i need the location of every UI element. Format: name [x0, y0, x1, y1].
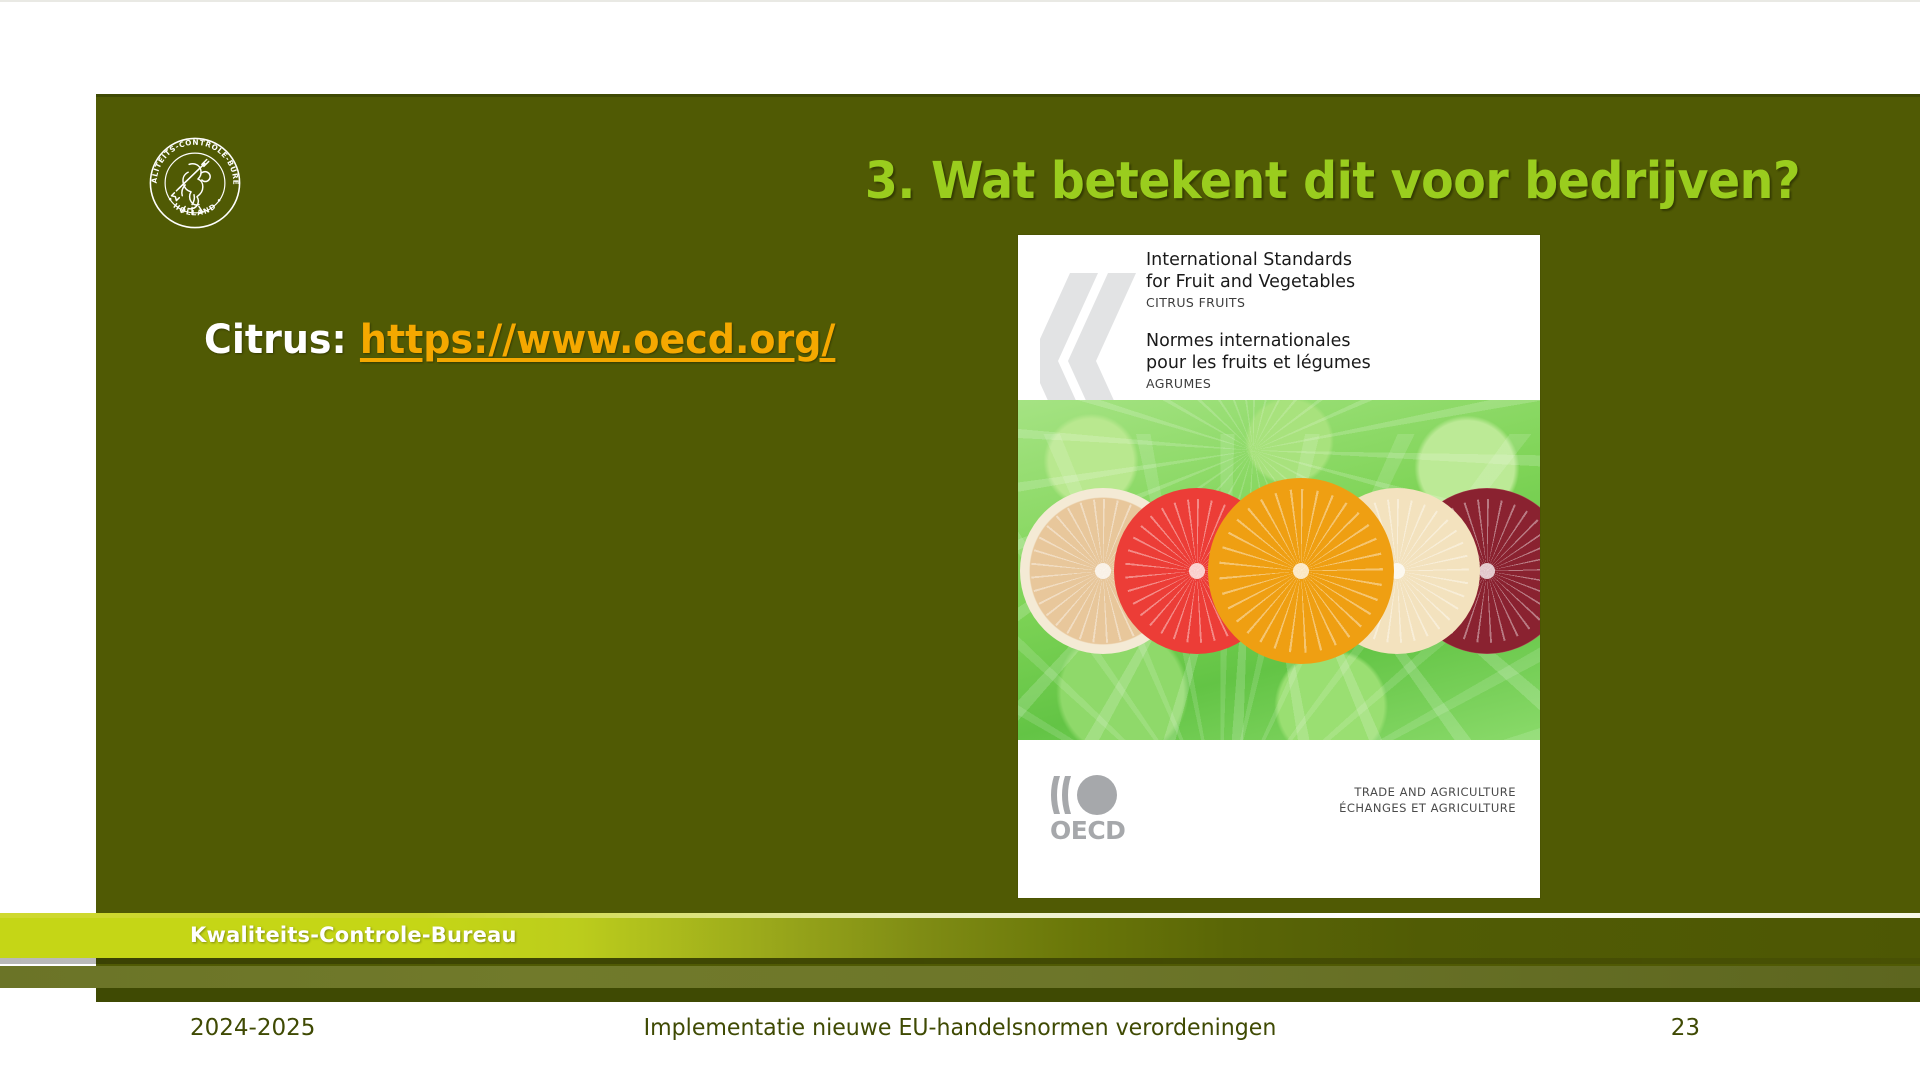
footer-deck-title: Implementatie nieuwe EU-handelsnormen ve…	[38, 1015, 1881, 1041]
cover-title-en-line2: for Fruit and Vegetables	[1146, 271, 1530, 293]
cover-footer-text: TRADE AND AGRICULTURE ÉCHANGES ET AGRICU…	[1339, 784, 1516, 816]
slide-title: 3. Wat betekent dit voor bedrijven?	[433, 152, 1800, 211]
oecd-logo-icon: OECD	[1048, 774, 1144, 844]
cover-subtitle-fr: AGRUMES	[1146, 376, 1530, 391]
citrus-label: Citrus:	[204, 317, 360, 363]
cover-title-en-line1: International Standards	[1146, 249, 1530, 271]
page-footer: 2024-2025 Implementatie nieuwe EU-handel…	[0, 1015, 1920, 1055]
cover-footer: OECD TRADE AND AGRICULTURE ÉCHANGES ET A…	[1018, 740, 1540, 898]
slide-panel-top-edge	[96, 94, 1920, 97]
cover-subtitle-en: CITRUS FRUITS	[1146, 295, 1530, 310]
citrus-slice-orange	[1208, 478, 1394, 664]
footer-brand-label: Kwaliteits-Controle-Bureau	[190, 923, 517, 947]
cover-title-fr-line2: pour les fruits et légumes	[1146, 352, 1530, 374]
brand-band-shadow	[0, 958, 1920, 964]
cover-foot-line-en: TRADE AND AGRICULTURE	[1339, 784, 1516, 800]
presentation-slide: KWALITEITS-CONTROLE-BUREAU • HOLLAND • 3…	[0, 0, 1920, 1079]
cover-title-block: International Standards for Fruit and Ve…	[1146, 249, 1530, 391]
svg-text:OECD: OECD	[1050, 816, 1125, 844]
capture-top-rule	[0, 0, 1920, 2]
kcb-seal-logo: KWALITEITS-CONTROLE-BUREAU • HOLLAND •	[146, 134, 244, 232]
oecd-publication-cover: International Standards for Fruit and Ve…	[1018, 235, 1540, 898]
cover-title-fr-line1: Normes internationales	[1146, 330, 1530, 352]
footer-page-number: 23	[1671, 1015, 1700, 1041]
cover-foot-line-fr: ÉCHANGES ET AGRICULTURE	[1339, 800, 1516, 816]
citrus-slices-photo	[1018, 400, 1540, 740]
panel-bottom-edge	[96, 988, 1920, 1002]
slide-content-panel	[96, 94, 1920, 988]
cover-header: International Standards for Fruit and Ve…	[1018, 235, 1540, 400]
oecd-link[interactable]: https://www.oecd.org/	[360, 317, 835, 363]
brand-band-olive	[0, 966, 1920, 988]
svg-text:KWALITEITS-CONTROLE-BUREAU: KWALITEITS-CONTROLE-BUREAU	[146, 134, 240, 185]
citrus-link-line: Citrus: https://www.oecd.org/	[204, 314, 835, 366]
